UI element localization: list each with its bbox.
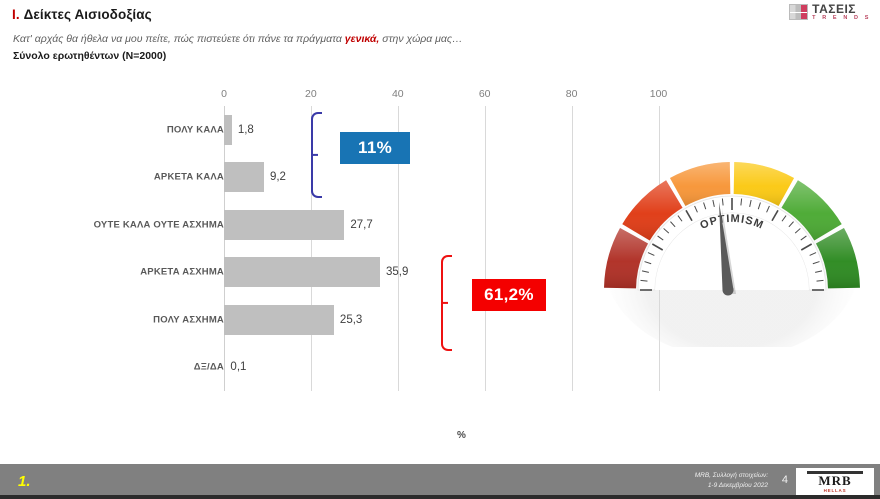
bar-row: ΔΞ/ΔΑ0,1 [0, 344, 880, 392]
category-label-5: ΔΞ/ΔΑ [64, 361, 224, 374]
x-tick-label-20: 20 [305, 88, 317, 100]
bar-4 [224, 305, 334, 335]
question-subtitle-pre: Κατ' αρχάς θα ήθελα να μου πείτε, πώς πι… [13, 33, 345, 45]
mrb-logo: MRB HELLAS [796, 468, 874, 496]
bar-value-2: 27,7 [350, 219, 372, 231]
footer-bar: 1. MRB, Συλλογή στοιχείων: 1-9 Δεκεμβρίο… [0, 464, 880, 499]
question-subtitle-post: στην χώρα μας… [379, 33, 462, 45]
badge-negative: 61,2% [472, 279, 546, 311]
bar-2 [224, 210, 344, 240]
bracket-positive [311, 112, 322, 198]
category-label-4: ΠΟΛΥ ΑΣΧΗΜΑ [64, 313, 224, 326]
sample-size-label: Σύνολο ερωτηθέντων (Ν=2000) [13, 50, 166, 62]
bar-value-4: 25,3 [340, 314, 362, 326]
bracket-negative [441, 255, 452, 351]
page-number: 4 [782, 474, 788, 486]
brand-logo-trends: ΤΑΣΕΙΣ T R E N D S [789, 3, 871, 22]
category-label-3: ΑΡΚΕΤΑ ΑΣΧΗΜΑ [64, 266, 224, 279]
gauge-graphic: OPTIMISM [596, 112, 868, 347]
brand-wordmark: ΤΑΣΕΙΣ T R E N D S [812, 3, 871, 22]
slide-marker: 1. [18, 473, 31, 490]
category-label-1: ΑΡΚΕΤΑ ΚΑΛΑ [64, 171, 224, 184]
mrb-logo-text: MRB [818, 474, 851, 488]
brand-subtitle: T R E N D S [812, 16, 871, 22]
optimism-gauge: OPTIMISM [596, 112, 868, 347]
bar-value-1: 9,2 [270, 171, 286, 183]
page-title-numeral: I. [12, 7, 20, 22]
x-tick-label-100: 100 [650, 88, 668, 100]
brand-name: ΤΑΣΕΙΣ [812, 3, 871, 15]
slide-root: I. Δείκτες Αισιοδοξίας Κατ' αρχάς θα ήθε… [0, 0, 880, 499]
footer-source-line1: MRB, Συλλογή στοιχείων: [695, 471, 768, 481]
footer-accent-strip [0, 495, 880, 499]
bar-0 [224, 115, 232, 145]
category-label-0: ΠΟΛΥ ΚΑΛΑ [64, 123, 224, 136]
bar-value-5: 0,1 [230, 361, 246, 373]
footer-source-line2: 1-9 Δεκεμβρίου 2022 [695, 481, 768, 491]
footer-source: MRB, Συλλογή στοιχείων: 1-9 Δεκεμβρίου 2… [695, 471, 768, 491]
x-tick-label-40: 40 [392, 88, 404, 100]
question-subtitle-highlight: γενικά, [345, 33, 380, 45]
x-tick-label-80: 80 [566, 88, 578, 100]
x-axis-unit-label: % [457, 430, 466, 441]
bar-value-3: 35,9 [386, 266, 408, 278]
bar-value-0: 1,8 [238, 124, 254, 136]
mrb-logo-sub: HELLAS [824, 488, 847, 493]
bar-1 [224, 162, 264, 192]
page-title-text: Δείκτες Αισιοδοξίας [24, 7, 152, 22]
x-tick-label-0: 0 [221, 88, 227, 100]
x-tick-label-60: 60 [479, 88, 491, 100]
badge-positive: 11% [340, 132, 410, 164]
page-title: I. Δείκτες Αισιοδοξίας [12, 7, 152, 22]
question-subtitle: Κατ' αρχάς θα ήθελα να μου πείτε, πώς πι… [13, 33, 463, 45]
category-label-2: ΟΥΤΕ ΚΑΛΑ ΟΥΤΕ ΑΣΧΗΜΑ [64, 218, 224, 231]
bar-3 [224, 257, 380, 287]
brand-mark-icon [789, 4, 808, 20]
x-axis-tick-labels: 020406080100 [0, 88, 880, 106]
